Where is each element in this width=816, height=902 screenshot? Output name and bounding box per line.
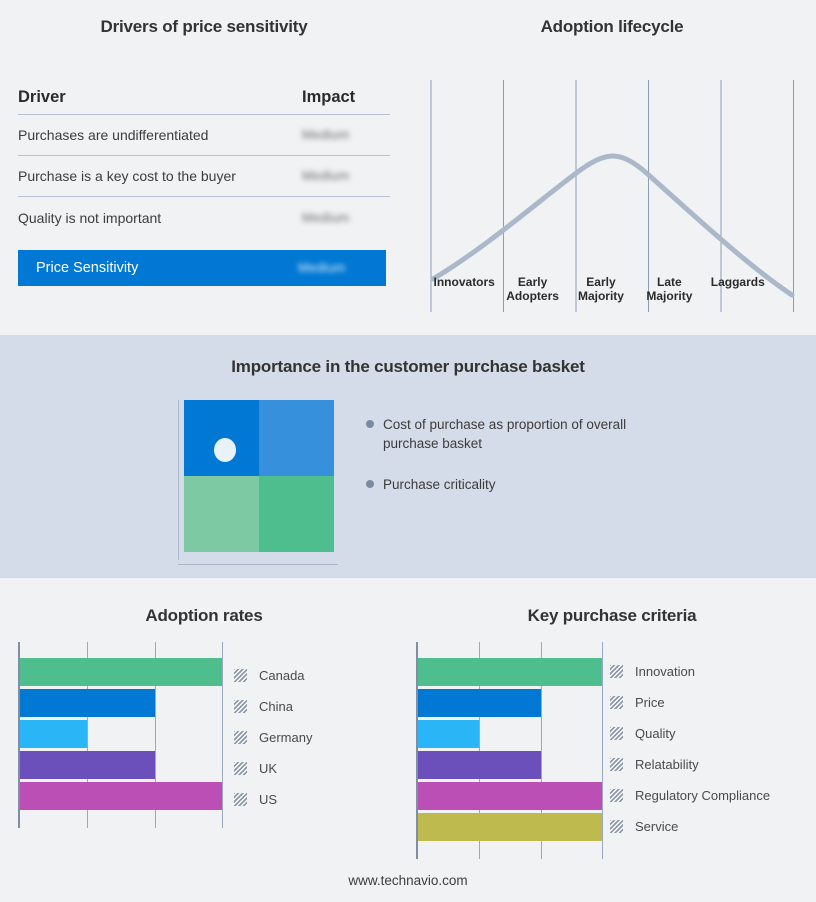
impact-value: Medium [302,126,390,144]
bar-fill [418,689,541,717]
hatched-swatch-icon [610,758,623,771]
lifecycle-stage-laggards: Laggards [704,275,772,303]
lifecycle-stage-early-majority: EarlyMajority [567,275,635,303]
legend-item[interactable]: Canada [234,660,312,691]
bar-us[interactable] [20,782,222,810]
table-row[interactable]: Purchase is a key cost to the buyer Medi… [18,156,390,197]
legend-item-label: Relatability [635,757,699,772]
bar-germany[interactable] [20,720,87,748]
hatched-swatch-icon [610,820,623,833]
bar-canada[interactable] [20,658,222,686]
column-header-impact: Impact [302,88,390,107]
hatched-swatch-icon [610,727,623,740]
legend-item[interactable]: US [234,784,312,815]
bar-fill [418,782,602,810]
stage-label-line: Laggards [711,275,765,289]
bar-fill [20,751,155,779]
key-purchase-criteria-plot-area [416,642,602,859]
driver-label: Price Sensitivity [36,260,298,276]
adoption-rates-legend: CanadaChinaGermanyUKUS [234,660,312,815]
quadrant-top-left [184,400,259,476]
legend-item[interactable]: Relatability [610,749,770,780]
hatched-swatch-icon [234,762,247,775]
driver-label: Purchase is a key cost to the buyer [18,168,302,184]
lifecycle-stage-labels: Innovators EarlyAdopters EarlyMajority L… [430,275,795,303]
quadrant-matrix-chart [178,400,338,565]
bar-fill [418,658,602,686]
lifecycle-stage-innovators: Innovators [430,275,498,303]
bar-uk[interactable] [20,751,155,779]
drivers-title: Drivers of price sensitivity [0,17,408,37]
key-purchase-criteria-legend: InnovationPriceQualityRelatabilityRegula… [610,656,770,842]
hatched-swatch-icon [610,696,623,709]
table-row[interactable]: Quality is not important Medium [18,197,390,238]
bar-fill [418,720,479,748]
bar-fill [20,720,87,748]
legend-item[interactable]: Innovation [610,656,770,687]
legend-item: Cost of purchase as proportion of overal… [366,415,666,453]
key-purchase-criteria-chart: Key purchase criteria InnovationPriceQua… [408,578,816,626]
bar-service[interactable] [418,813,602,841]
matrix-y-axis [178,400,179,560]
hatched-swatch-icon [234,793,247,806]
stage-label-line: Early [518,275,547,289]
lifecycle-title: Adoption lifecycle [408,17,816,37]
footer-url: www.technavio.com [0,873,816,888]
legend-item[interactable]: Quality [610,718,770,749]
lifecycle-stage-early-adopters: EarlyAdopters [498,275,566,303]
bar-fill [418,751,541,779]
legend-item[interactable]: Price [610,687,770,718]
position-marker-dot [214,438,236,462]
legend-item-label: Canada [259,668,305,683]
impact-value: Medium [302,209,390,227]
impact-value: Medium [302,167,390,185]
impact-value: Medium [298,259,386,277]
bar-fill [20,689,155,717]
table-row[interactable]: Purchases are undifferentiated Medium [18,115,390,156]
bar-relatability[interactable] [418,751,541,779]
basket-legend: Cost of purchase as proportion of overal… [366,415,666,516]
grid-line [602,642,603,859]
quadrant-bottom-left [184,476,259,552]
legend-item-label: Purchase criticality [383,475,496,494]
matrix-x-axis [178,564,338,565]
legend-item-label: China [259,699,293,714]
bar-price[interactable] [418,689,541,717]
grid-line [222,642,223,828]
matrix-quadrants [184,400,334,552]
legend-item-label: Quality [635,726,675,741]
adoption-lifecycle-panel: Adoption lifecycle Innovators EarlyAdopt… [408,0,816,335]
legend-item[interactable]: Regulatory Compliance [610,780,770,811]
hatched-swatch-icon [234,731,247,744]
driver-label: Purchases are undifferentiated [18,127,302,143]
stage-label-line: Innovators [434,275,495,289]
stage-label-line: Late [657,275,682,289]
quadrant-top-right [259,400,334,476]
bottom-charts: Adoption rates CanadaChinaGermanyUKUS Ke… [0,578,816,902]
legend-item[interactable]: Service [610,811,770,842]
legend-item-label: Service [635,819,678,834]
column-header-driver: Driver [18,88,302,107]
table-row-highlighted-price-sensitivity[interactable]: Price Sensitivity Medium [18,250,386,286]
adoption-rates-chart: Adoption rates CanadaChinaGermanyUKUS [0,578,408,626]
quadrant-bottom-right [259,476,334,552]
hatched-swatch-icon [610,665,623,678]
infographic-page: Drivers of price sensitivity Driver Impa… [0,0,816,902]
legend-item-label: Regulatory Compliance [635,788,770,803]
bar-fill [20,658,222,686]
legend-item-label: US [259,792,277,807]
legend-item: Purchase criticality [366,475,666,494]
stage-label-line: Early [586,275,615,289]
key-purchase-criteria-title: Key purchase criteria [408,606,816,626]
bullet-dot-icon [366,480,374,488]
legend-item[interactable]: UK [234,753,312,784]
bullet-dot-icon [366,420,374,428]
stage-label-line: Majority [646,289,692,303]
legend-item[interactable]: Germany [234,722,312,753]
basket-title: Importance in the customer purchase bask… [0,357,816,377]
driver-label: Quality is not important [18,210,302,226]
hatched-swatch-icon [610,789,623,802]
bar-quality[interactable] [418,720,479,748]
bar-innovation[interactable] [418,658,602,686]
legend-item-label: Cost of purchase as proportion of overal… [383,415,633,453]
stage-label-line: Majority [578,289,624,303]
bar-china[interactable] [20,689,155,717]
lifecycle-stage-late-majority: LateMajority [635,275,703,303]
bar-regulatory-compliance[interactable] [418,782,602,810]
hatched-swatch-icon [234,700,247,713]
legend-item[interactable]: China [234,691,312,722]
legend-item-label: Price [635,695,665,710]
legend-item-label: Innovation [635,664,695,679]
bar-fill [418,813,602,841]
hatched-swatch-icon [234,669,247,682]
table-header-row: Driver Impact [18,88,390,115]
adoption-rates-title: Adoption rates [0,606,408,626]
drivers-panel: Drivers of price sensitivity Driver Impa… [0,0,408,335]
stage-label-line: Adopters [506,289,559,303]
purchase-basket-panel: Importance in the customer purchase bask… [0,335,816,578]
bar-fill [20,782,222,810]
legend-item-label: Germany [259,730,312,745]
drivers-table: Driver Impact Purchases are undifferenti… [18,88,390,286]
legend-item-label: UK [259,761,277,776]
adoption-rates-plot-area [18,642,222,828]
